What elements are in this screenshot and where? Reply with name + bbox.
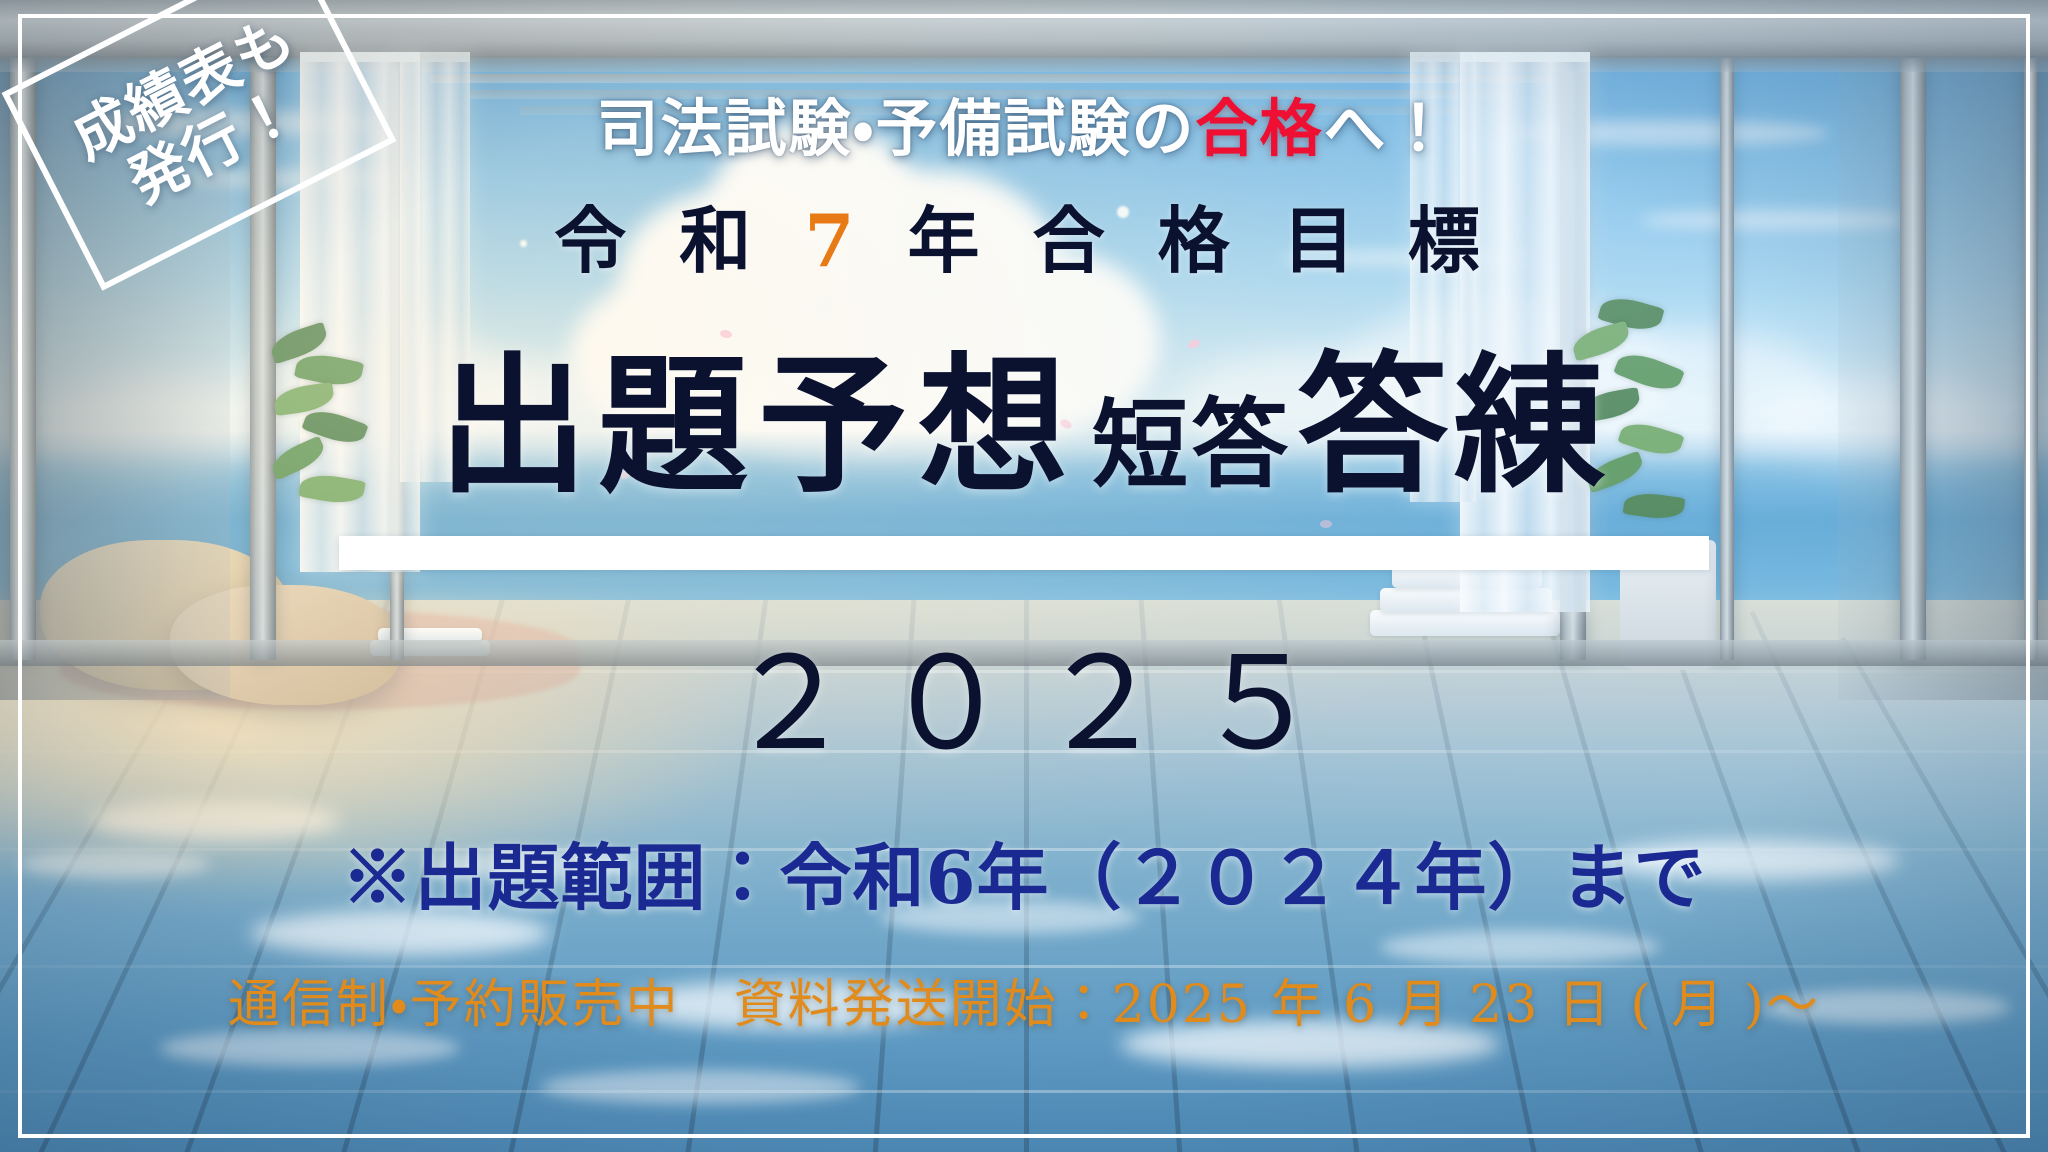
kicker-suffix: へ！	[1324, 92, 1452, 165]
main-title-secondary: 短答	[1092, 367, 1292, 506]
white-divider-bar	[339, 536, 1709, 570]
kicker-highlight: 合格	[1196, 92, 1324, 165]
year-number: 7	[804, 198, 868, 283]
main-title: 出題予想 短答 答練	[438, 305, 1610, 522]
main-title-primary: 出題予想	[438, 305, 1078, 522]
year-prefix: 令 和	[554, 198, 804, 283]
kicker-line: 司法試験・予備試験の合格へ！	[596, 78, 1451, 168]
scope-note: ※出題範囲：令和6年（２０２４年）まで	[341, 819, 1706, 924]
kicker-prefix: 司法試験・予備試験の	[596, 92, 1195, 165]
sale-note: 通信制・予約販売中 資料発送開始：2025 年 6 月 23 日 ( 月 )〜	[228, 962, 1820, 1037]
edition-year: ２０２５	[698, 600, 1350, 785]
main-title-tertiary: 答練	[1298, 305, 1610, 522]
year-suffix: 年 合 格 目 標	[868, 198, 1493, 283]
target-year-line: 令 和 7 年 合 格 目 標	[554, 182, 1494, 287]
promotional-poster: 司法試験・予備試験の合格へ！ 令 和 7 年 合 格 目 標 出題予想 短答 答…	[0, 0, 2048, 1152]
